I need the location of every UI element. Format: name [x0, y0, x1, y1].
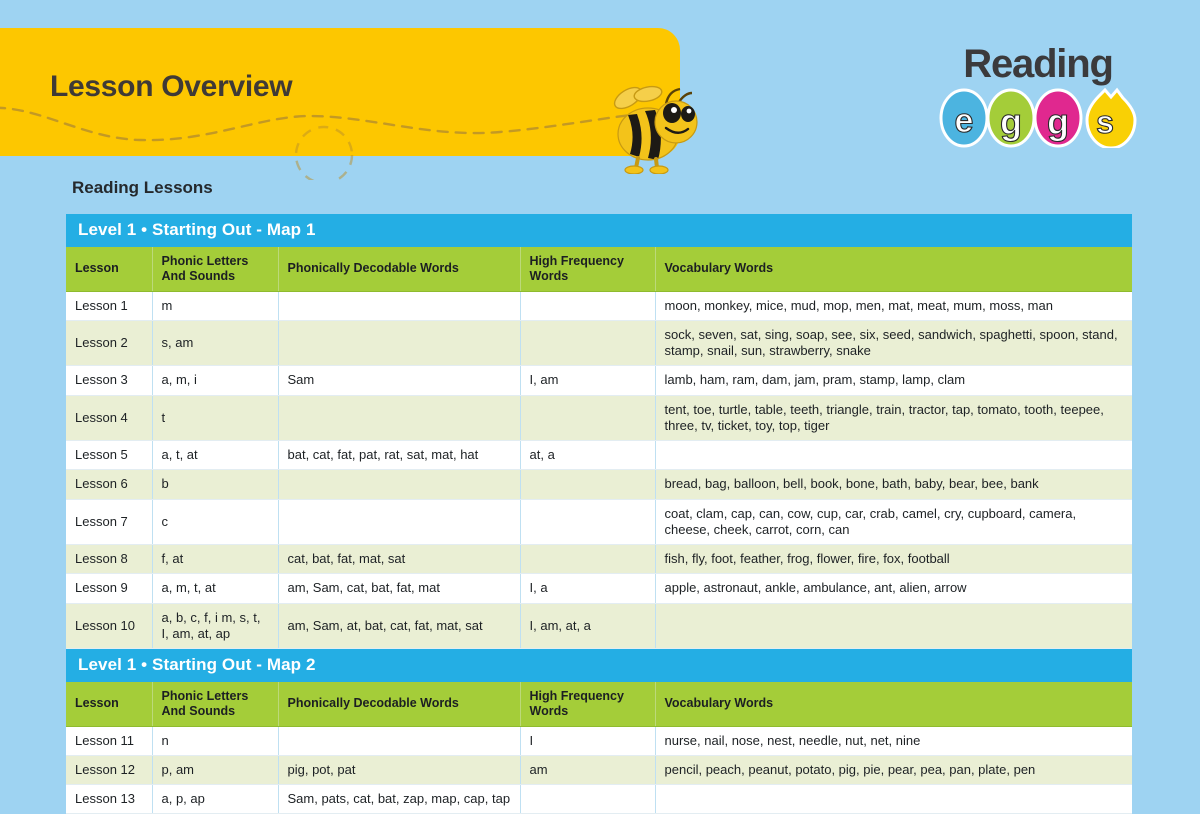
column-header-row: LessonPhonic Letters And SoundsPhonicall…	[66, 247, 1132, 291]
cell-phonic: f, at	[152, 545, 278, 574]
column-header-phonic: Phonic Letters And Sounds	[152, 247, 278, 291]
section-band-row: Level 1 • Starting Out - Map 2	[66, 649, 1132, 683]
cell-vocabulary: sock, seven, sat, sing, soap, see, six, …	[655, 320, 1132, 366]
column-header-vocabulary: Vocabulary Words	[655, 247, 1132, 291]
logo-egg-g1: g	[988, 90, 1034, 146]
cell-vocabulary	[655, 441, 1132, 470]
table-row[interactable]: Lesson 9a, m, t, atam, Sam, cat, bat, fa…	[66, 574, 1132, 603]
cell-phonic: a, b, c, f, i m, s, t, I, am, at, ap	[152, 603, 278, 649]
column-header-row: LessonPhonic Letters And SoundsPhonicall…	[66, 682, 1132, 726]
logo-egg-e: e	[941, 90, 987, 146]
column-header-high-frequency: High Frequency Words	[520, 247, 655, 291]
table-row[interactable]: Lesson 2s, amsock, seven, sat, sing, soa…	[66, 320, 1132, 366]
cell-decodable	[278, 291, 520, 320]
table-row[interactable]: Lesson 3a, m, iSamI, amlamb, ham, ram, d…	[66, 366, 1132, 395]
cell-decodable: pig, pot, pat	[278, 755, 520, 784]
cell-decodable	[278, 320, 520, 366]
cell-high-frequency: I, a	[520, 574, 655, 603]
table-row[interactable]: Lesson 13a, p, apSam, pats, cat, bat, za…	[66, 785, 1132, 814]
logo-egg-s: s	[1087, 90, 1135, 148]
table-row[interactable]: Lesson 5a, t, atbat, cat, fat, pat, rat,…	[66, 441, 1132, 470]
cell-lesson: Lesson 6	[66, 470, 152, 499]
cell-high-frequency: I	[520, 726, 655, 755]
cell-vocabulary: nurse, nail, nose, nest, needle, nut, ne…	[655, 726, 1132, 755]
cell-lesson: Lesson 2	[66, 320, 152, 366]
logo-egg-g2: g	[1035, 90, 1081, 146]
bee-mascot-icon	[604, 82, 704, 174]
cell-vocabulary: tent, toe, turtle, table, teeth, triangl…	[655, 395, 1132, 441]
cell-decodable	[278, 395, 520, 441]
table-row[interactable]: Lesson 6bbread, bag, balloon, bell, book…	[66, 470, 1132, 499]
cell-phonic: a, p, ap	[152, 785, 278, 814]
cell-phonic: p, am	[152, 755, 278, 784]
cell-high-frequency: I, am, at, a	[520, 603, 655, 649]
cell-lesson: Lesson 8	[66, 545, 152, 574]
cell-decodable: am, Sam, cat, bat, fat, mat	[278, 574, 520, 603]
cell-lesson: Lesson 3	[66, 366, 152, 395]
cell-decodable	[278, 499, 520, 545]
table-row[interactable]: Lesson 1mmoon, monkey, mice, mud, mop, m…	[66, 291, 1132, 320]
cell-decodable: cat, bat, fat, mat, sat	[278, 545, 520, 574]
lesson-overview-table-body: Level 1 • Starting Out - Map 1LessonPhon…	[66, 214, 1132, 814]
section-band-label: Level 1 • Starting Out - Map 1	[66, 214, 1132, 247]
header-banner: Lesson Overview	[0, 28, 680, 156]
cell-decodable	[278, 726, 520, 755]
cell-lesson: Lesson 4	[66, 395, 152, 441]
column-header-decodable: Phonically Decodable Words	[278, 682, 520, 726]
cell-phonic: n	[152, 726, 278, 755]
cell-vocabulary: coat, clam, cap, can, cow, cup, car, cra…	[655, 499, 1132, 545]
column-header-vocabulary: Vocabulary Words	[655, 682, 1132, 726]
cell-lesson: Lesson 10	[66, 603, 152, 649]
section-heading: Reading Lessons	[72, 178, 213, 198]
cell-high-frequency	[520, 395, 655, 441]
logo-eggs-group: e g g s	[938, 86, 1138, 148]
cell-high-frequency	[520, 545, 655, 574]
cell-decodable: Sam	[278, 366, 520, 395]
section-band-label: Level 1 • Starting Out - Map 2	[66, 649, 1132, 683]
cell-decodable: Sam, pats, cat, bat, zap, map, cap, tap	[278, 785, 520, 814]
svg-text:g: g	[1047, 101, 1069, 142]
cell-lesson: Lesson 9	[66, 574, 152, 603]
table-row[interactable]: Lesson 7ccoat, clam, cap, can, cow, cup,…	[66, 499, 1132, 545]
lesson-overview-table: Level 1 • Starting Out - Map 1LessonPhon…	[66, 214, 1132, 814]
cell-phonic: a, m, i	[152, 366, 278, 395]
lesson-overview-table-container: Level 1 • Starting Out - Map 1LessonPhon…	[66, 214, 1132, 814]
cell-decodable	[278, 470, 520, 499]
svg-text:e: e	[955, 102, 974, 140]
cell-lesson: Lesson 12	[66, 755, 152, 784]
cell-lesson: Lesson 13	[66, 785, 152, 814]
column-header-lesson: Lesson	[66, 682, 152, 726]
cell-phonic: m	[152, 291, 278, 320]
cell-decodable: am, Sam, at, bat, cat, fat, mat, sat	[278, 603, 520, 649]
column-header-high-frequency: High Frequency Words	[520, 682, 655, 726]
cell-phonic: b	[152, 470, 278, 499]
cell-vocabulary	[655, 603, 1132, 649]
cell-vocabulary: bread, bag, balloon, bell, book, bone, b…	[655, 470, 1132, 499]
cell-phonic: a, m, t, at	[152, 574, 278, 603]
svg-text:s: s	[1096, 104, 1114, 140]
table-row[interactable]: Lesson 12p, ampig, pot, patampencil, pea…	[66, 755, 1132, 784]
table-row[interactable]: Lesson 4ttent, toe, turtle, table, teeth…	[66, 395, 1132, 441]
cell-phonic: c	[152, 499, 278, 545]
cell-vocabulary: fish, fly, foot, feather, frog, flower, …	[655, 545, 1132, 574]
cell-high-frequency: am	[520, 755, 655, 784]
table-row[interactable]: Lesson 10a, b, c, f, i m, s, t, I, am, a…	[66, 603, 1132, 649]
cell-vocabulary: moon, monkey, mice, mud, mop, men, mat, …	[655, 291, 1132, 320]
cell-lesson: Lesson 5	[66, 441, 152, 470]
reading-eggs-logo: Reading e g g s	[938, 44, 1138, 153]
column-header-decodable: Phonically Decodable Words	[278, 247, 520, 291]
cell-high-frequency	[520, 470, 655, 499]
cell-lesson: Lesson 11	[66, 726, 152, 755]
cell-high-frequency	[520, 320, 655, 366]
section-band-row: Level 1 • Starting Out - Map 1	[66, 214, 1132, 247]
column-header-lesson: Lesson	[66, 247, 152, 291]
cell-lesson: Lesson 7	[66, 499, 152, 545]
cell-high-frequency	[520, 499, 655, 545]
table-row[interactable]: Lesson 11nInurse, nail, nose, nest, need…	[66, 726, 1132, 755]
cell-decodable: bat, cat, fat, pat, rat, sat, mat, hat	[278, 441, 520, 470]
page-title: Lesson Overview	[50, 70, 292, 104]
cell-phonic: t	[152, 395, 278, 441]
cell-high-frequency	[520, 291, 655, 320]
cell-high-frequency: I, am	[520, 366, 655, 395]
cell-vocabulary	[655, 785, 1132, 814]
column-header-phonic: Phonic Letters And Sounds	[152, 682, 278, 726]
svg-text:g: g	[1000, 101, 1022, 142]
table-row[interactable]: Lesson 8f, atcat, bat, fat, mat, satfish…	[66, 545, 1132, 574]
cell-phonic: a, t, at	[152, 441, 278, 470]
cell-vocabulary: lamb, ham, ram, dam, jam, pram, stamp, l…	[655, 366, 1132, 395]
cell-phonic: s, am	[152, 320, 278, 366]
cell-vocabulary: pencil, peach, peanut, potato, pig, pie,…	[655, 755, 1132, 784]
logo-wordmark: Reading	[938, 44, 1138, 84]
cell-vocabulary: apple, astronaut, ankle, ambulance, ant,…	[655, 574, 1132, 603]
cell-high-frequency	[520, 785, 655, 814]
cell-lesson: Lesson 1	[66, 291, 152, 320]
cell-high-frequency: at, a	[520, 441, 655, 470]
